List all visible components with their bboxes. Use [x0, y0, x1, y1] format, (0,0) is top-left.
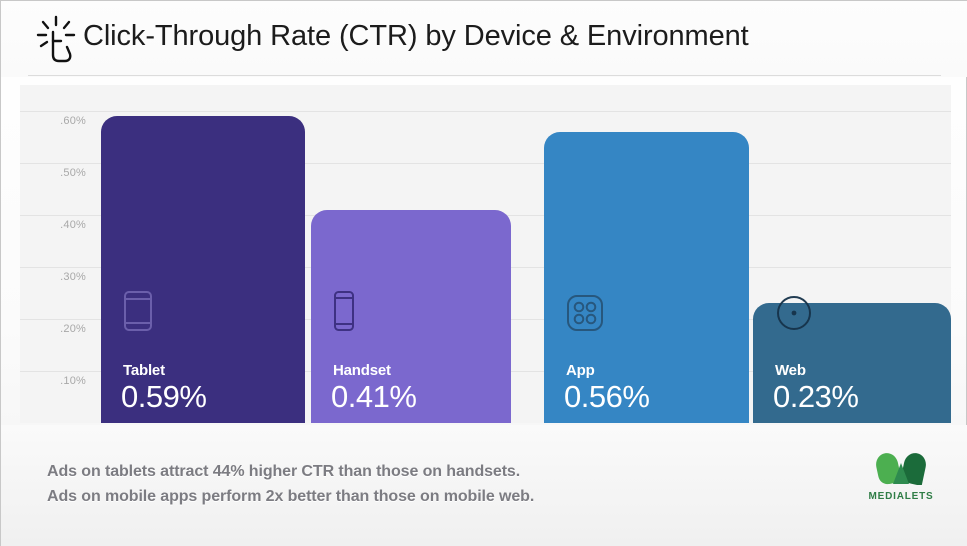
bar-label-tablet: Tablet	[123, 362, 165, 379]
tap-gesture-icon	[35, 15, 79, 65]
bar-label-handset: Handset	[333, 362, 391, 379]
chart-header: Click-Through Rate (CTR) by Device & Env…	[1, 1, 967, 77]
header-divider	[28, 75, 941, 76]
bar-label-app: App	[566, 362, 595, 379]
handset-phone-icon	[333, 290, 355, 337]
medialets-m-logo	[863, 451, 939, 490]
bar-value-app: 0.56%	[564, 379, 649, 415]
app-grid-icon	[566, 294, 604, 337]
y-axis-tick-label: .10%	[20, 375, 86, 387]
brand-logo-text: MEDIALETS	[863, 491, 939, 502]
bar-value-web: 0.23%	[773, 379, 858, 415]
plot-area: .60%.50%.40%.30%.20%.10% Tablet0.59%Hand…	[20, 85, 951, 423]
bar-label-web: Web	[775, 362, 806, 379]
bar-app[interactable]: App0.56%	[544, 132, 749, 423]
footer-insight-line-1: Ads on tablets attract 44% higher CTR th…	[47, 463, 520, 481]
web-compass-icon	[775, 294, 813, 337]
bar-handset[interactable]: Handset0.41%	[311, 210, 511, 423]
y-axis-tick-label: .20%	[20, 323, 86, 335]
footer-insight-line-2: Ads on mobile apps perform 2x better tha…	[47, 488, 534, 506]
y-axis-tick-label: .30%	[20, 271, 86, 283]
y-axis-tick-label: .40%	[20, 219, 86, 231]
bar-value-handset: 0.41%	[331, 379, 416, 415]
y-axis-tick-label: .50%	[20, 167, 86, 179]
chart-window: Click-Through Rate (CTR) by Device & Env…	[0, 0, 967, 546]
brand-logo: MEDIALETS	[863, 451, 939, 501]
bar-value-tablet: 0.59%	[121, 379, 206, 415]
bar-tablet[interactable]: Tablet0.59%	[101, 116, 305, 423]
chart-footer: Ads on tablets attract 44% higher CTR th…	[1, 425, 967, 546]
gridline	[20, 111, 951, 112]
page-title: Click-Through Rate (CTR) by Device & Env…	[83, 20, 749, 53]
tablet-device-icon	[123, 290, 153, 337]
y-axis-tick-label: .60%	[20, 115, 86, 127]
bar-web[interactable]: Web0.23%	[753, 303, 951, 423]
